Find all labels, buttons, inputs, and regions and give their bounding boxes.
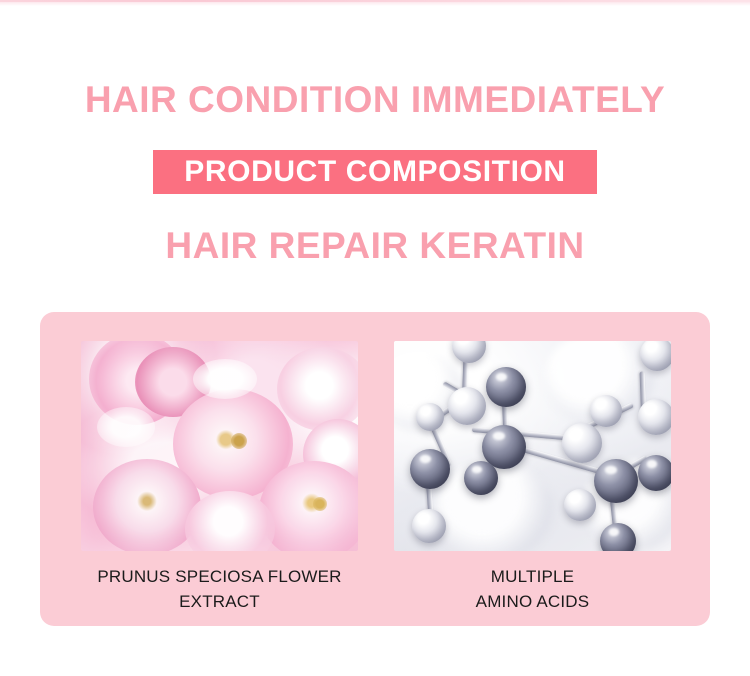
product-composition-banner: PRODUCT COMPOSITION bbox=[153, 150, 597, 194]
caption-line-1: MULTIPLE bbox=[394, 564, 671, 589]
banner-label: PRODUCT COMPOSITION bbox=[184, 157, 565, 187]
ingredient-image-flower bbox=[81, 341, 358, 551]
ingredient-caption-molecule: MULTIPLE AMINO ACIDS bbox=[394, 564, 671, 614]
caption-line-1: PRUNUS SPECIOSA FLOWER bbox=[81, 564, 358, 589]
headline-bottom: HAIR REPAIR KERATIN bbox=[0, 224, 750, 268]
caption-line-2: EXTRACT bbox=[81, 589, 358, 614]
headline-top: HAIR CONDITION IMMEDIATELY bbox=[0, 78, 750, 122]
ingredient-caption-flower: PRUNUS SPECIOSA FLOWER EXTRACT bbox=[81, 564, 358, 614]
molecule-structure-photo bbox=[394, 341, 671, 551]
cherry-blossom-photo bbox=[81, 341, 358, 551]
caption-line-2: AMINO ACIDS bbox=[394, 589, 671, 614]
ingredient-panels: PRUNUS SPECIOSA FLOWER EXTRACT MULTIPLE … bbox=[40, 312, 710, 626]
ingredient-image-molecule bbox=[394, 341, 671, 551]
headings-section: HAIR CONDITION IMMEDIATELY PRODUCT COMPO… bbox=[0, 0, 750, 300]
ingredients-card: PRUNUS SPECIOSA FLOWER EXTRACT MULTIPLE … bbox=[40, 312, 710, 626]
